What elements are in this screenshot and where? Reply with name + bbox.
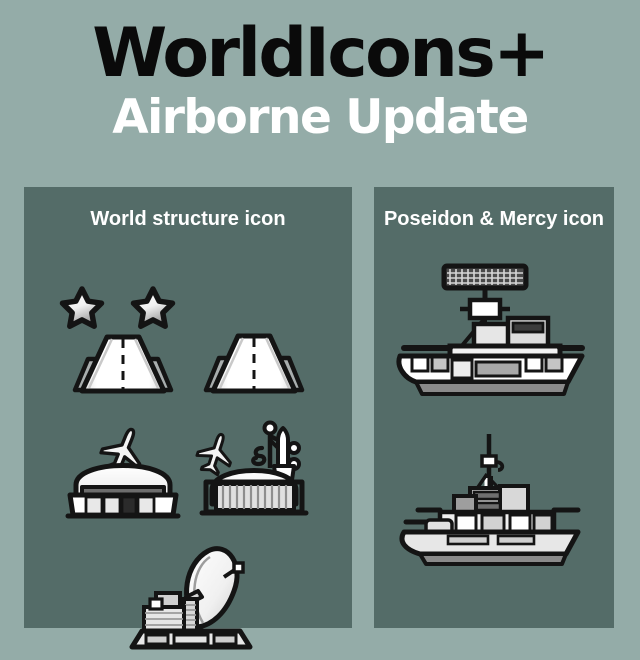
satellite-dish-icon[interactable]	[128, 537, 268, 657]
runway-icon[interactable]	[189, 302, 319, 402]
poseidon-ship-icon[interactable]	[382, 430, 597, 560]
page-title: WorldIcons+	[0, 18, 640, 90]
star-icon-left	[63, 289, 102, 326]
runway-star-icon[interactable]	[58, 287, 188, 402]
airplane-icon	[193, 429, 238, 477]
poster-header: WorldIcons+ Airborne Update	[0, 0, 640, 144]
radar-array-icon	[444, 266, 526, 318]
panel-poseidon-mercy: Poseidon & Mercy icon	[374, 187, 614, 628]
panel-title-poseidon-mercy: Poseidon & Mercy icon	[374, 187, 614, 232]
poster-root: WorldIcons+ Airborne Update World struct…	[0, 0, 640, 660]
hangar-plane-icon[interactable]	[60, 417, 195, 527]
panel-title-world-structure: World structure icon	[24, 187, 352, 232]
panel-world-structure: World structure icon	[24, 187, 352, 628]
hangar-rocket-icon[interactable]	[190, 414, 330, 529]
star-icon-right	[134, 289, 173, 326]
mercy-ship-icon[interactable]	[382, 254, 597, 379]
page-subtitle: Airborne Update	[0, 92, 640, 144]
